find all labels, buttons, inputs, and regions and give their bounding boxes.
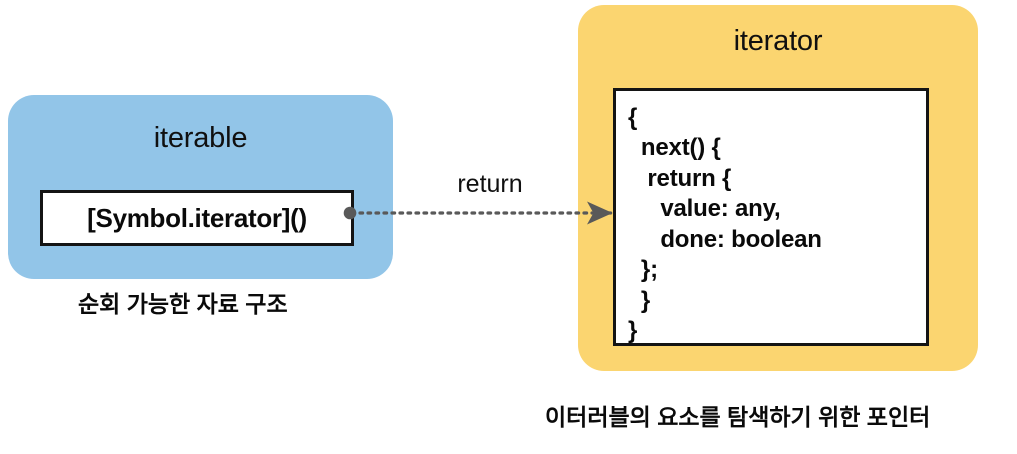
- iterator-caption: 이터러블의 요소를 탐색하기 위한 포인터: [545, 406, 930, 429]
- iterator-panel: iterator { next() { return { value: any,…: [578, 5, 978, 371]
- code-line: }: [616, 286, 926, 316]
- code-line: done: boolean: [616, 225, 926, 255]
- code-line: value: any,: [616, 194, 926, 224]
- code-line: {: [616, 103, 926, 133]
- code-line: };: [616, 255, 926, 285]
- code-line: return {: [616, 164, 926, 194]
- iterator-title: iterator: [578, 27, 978, 56]
- code-line: next() {: [616, 133, 926, 163]
- symbol-iterator-method-box: [Symbol.iterator](): [40, 190, 354, 246]
- iterable-panel: iterable [Symbol.iterator](): [8, 95, 393, 279]
- return-label: return: [430, 172, 550, 197]
- symbol-iterator-method-label: [Symbol.iterator](): [87, 203, 307, 234]
- code-line: }: [616, 316, 926, 346]
- iterator-code-box: { next() { return { value: any, done: bo…: [613, 88, 929, 346]
- diagram-canvas: iterable [Symbol.iterator]() iterator { …: [0, 0, 1017, 454]
- iterable-title: iterable: [8, 124, 393, 153]
- iterable-caption: 순회 가능한 자료 구조: [78, 293, 288, 316]
